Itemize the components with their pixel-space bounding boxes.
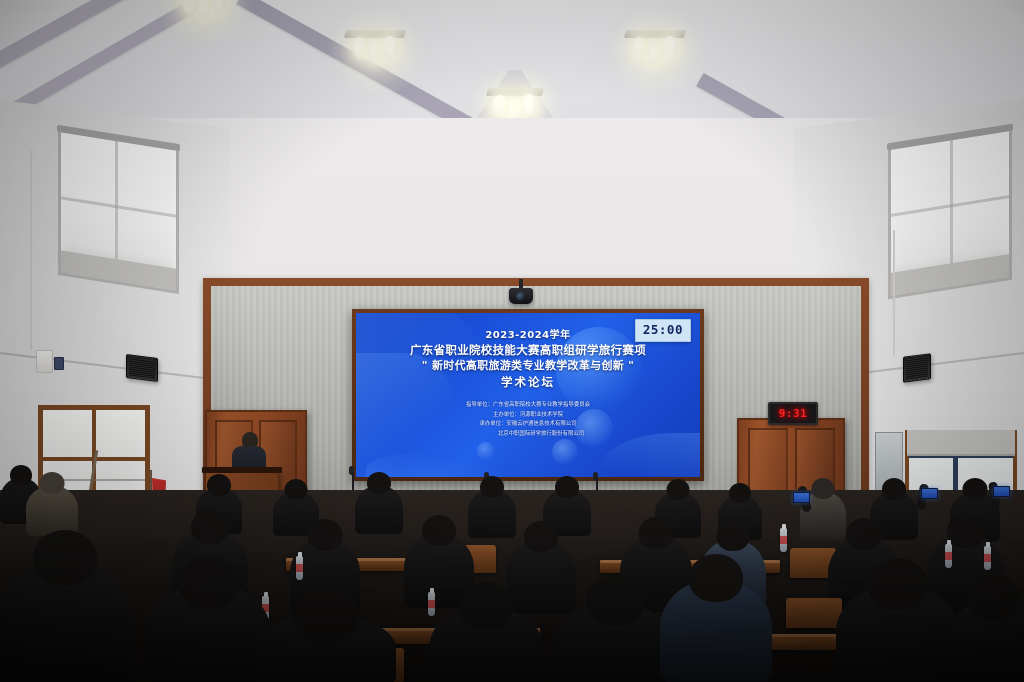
person-head (689, 554, 743, 602)
light-bulb (212, 0, 226, 13)
led-screen-bezel: 25:00 2023-2024学年 广东省职业院校技能大赛高职组研学旅行赛项 "… (352, 309, 704, 481)
person-head (882, 478, 906, 500)
conference-hall-scene: 9:31 25:00 2023-2024学年 广东省职业院校技能大赛高职组研学旅… (0, 0, 1024, 682)
led-presentation-screen[interactable]: 25:00 2023-2024学年 广东省职业院校技能大赛高职组研学旅行赛项 "… (356, 313, 700, 477)
light-bulb (182, 0, 196, 14)
water-bottle (296, 556, 303, 580)
high-window-right (888, 129, 1006, 294)
person-head (285, 479, 308, 500)
person-head (667, 479, 690, 500)
wall-switch-plate[interactable] (54, 357, 64, 370)
screen-blob-4 (477, 442, 495, 460)
person-head (40, 472, 65, 494)
audience-person-foreground (948, 600, 1024, 682)
ceiling-light-2 (345, 30, 405, 66)
person-head (191, 510, 229, 544)
light-bulb (383, 36, 397, 58)
audience-person (355, 486, 403, 534)
smartphone-recording[interactable] (993, 486, 1010, 497)
person-head (293, 586, 359, 642)
person-head (947, 514, 985, 548)
speaker-grille (906, 357, 928, 380)
person-head (729, 483, 751, 503)
chair-back (786, 598, 842, 628)
led-wall-clock: 9:31 (768, 402, 818, 425)
person-head (812, 478, 835, 499)
wall-speaker-right (903, 353, 931, 382)
light-bulb (663, 36, 677, 58)
person-head (524, 521, 558, 552)
person-head (480, 476, 504, 498)
person-head (967, 574, 1019, 620)
light-bulb (493, 95, 507, 117)
bottle-label (984, 554, 991, 562)
screen-credit-line: 承办单位：安徽云护通信息技术有限公司 (356, 420, 700, 429)
audience-person-foreground (256, 616, 396, 682)
window-blind-lowered-right[interactable] (907, 430, 1015, 456)
person-head (963, 478, 988, 500)
window-blind-right[interactable] (888, 128, 1012, 300)
screen-blob-3 (552, 439, 578, 465)
control-box-left[interactable] (36, 350, 53, 373)
bottle-label (780, 536, 787, 544)
light-bulb (633, 37, 647, 59)
person-head (422, 515, 456, 546)
light-bulb (197, 0, 211, 18)
light-mount-plate (344, 30, 406, 38)
person-head (10, 465, 32, 485)
screen-credit-line: 主办单位：河源职业技术学院 (356, 411, 700, 420)
mic-head (349, 466, 354, 475)
person-head (308, 519, 343, 551)
light-mount-plate (486, 88, 544, 96)
light-mount-plate (624, 30, 686, 38)
podium-top (202, 467, 282, 473)
bottle-label (945, 552, 952, 560)
screen-title-year: 2023-2024学年 (356, 330, 700, 341)
water-bottle (780, 528, 787, 552)
high-window-left (58, 129, 173, 287)
person-head (717, 521, 750, 551)
audience-person (468, 490, 516, 538)
smartphone-recording[interactable] (793, 492, 810, 503)
smartphone-recording[interactable] (921, 488, 938, 499)
person-head (639, 517, 674, 549)
light-bulb (648, 42, 662, 64)
person-head (33, 530, 97, 586)
ceiling-light-3 (487, 88, 543, 122)
person-head (179, 556, 239, 608)
audience-person (26, 486, 78, 536)
person-head (207, 474, 231, 496)
audience-person-foreground (0, 560, 130, 682)
screen-wave-bottom (596, 433, 700, 477)
water-bottle (984, 546, 991, 570)
window-mullion (61, 197, 176, 218)
audience-person-foreground (556, 604, 674, 682)
screen-credits: 指导单位：广东省高职院校大赛专业教学指导委员会 主办单位：河源职业技术学院 承办… (356, 401, 700, 439)
ceiling-camera (509, 288, 533, 304)
wall-conduit-left (30, 150, 32, 350)
screen-title-sub: " 新时代高职旅游类专业教学改革与创新 " (356, 360, 700, 372)
mic-head (593, 472, 598, 481)
audience-person-foreground (148, 584, 270, 682)
person-head (846, 518, 882, 550)
light-bulb (522, 94, 536, 116)
audience-person (506, 540, 576, 614)
led-clock-display: 9:31 (779, 407, 808, 420)
window-blind-left[interactable] (58, 129, 179, 294)
person-head (586, 576, 644, 626)
screen-credit-line: 北京中职国际研学旅行股份有限公司 (356, 430, 700, 439)
screen-text-block: 2023-2024学年 广东省职业院校技能大赛高职组研学旅行赛项 " 新时代高职… (356, 330, 700, 439)
audience-person-foreground (836, 586, 960, 682)
speaker-grille (129, 357, 155, 378)
screen-credit-line: 指导单位：广东省高职院校大赛专业教学指导委员会 (356, 401, 700, 410)
person-head (367, 472, 391, 494)
water-bottle (428, 592, 435, 616)
water-bottle (945, 544, 952, 568)
bottle-label (296, 564, 303, 572)
ceiling-light-1 (172, 0, 234, 20)
bottle-label (428, 600, 435, 608)
light-bulb (353, 37, 367, 59)
wall-speaker-left (126, 354, 158, 382)
screen-title-main: 广东省职业院校技能大赛高职组研学旅行赛项 (356, 344, 700, 357)
screen-title-forum: 学术论坛 (356, 376, 700, 389)
person-head (459, 582, 513, 630)
ceiling-light-4 (625, 30, 685, 66)
light-bulb (368, 42, 382, 64)
wall-conduit-right (893, 230, 895, 355)
person-head (868, 558, 928, 610)
person-head (555, 476, 579, 498)
audience-person-foreground (660, 580, 772, 682)
audience-person-foreground (430, 608, 542, 682)
